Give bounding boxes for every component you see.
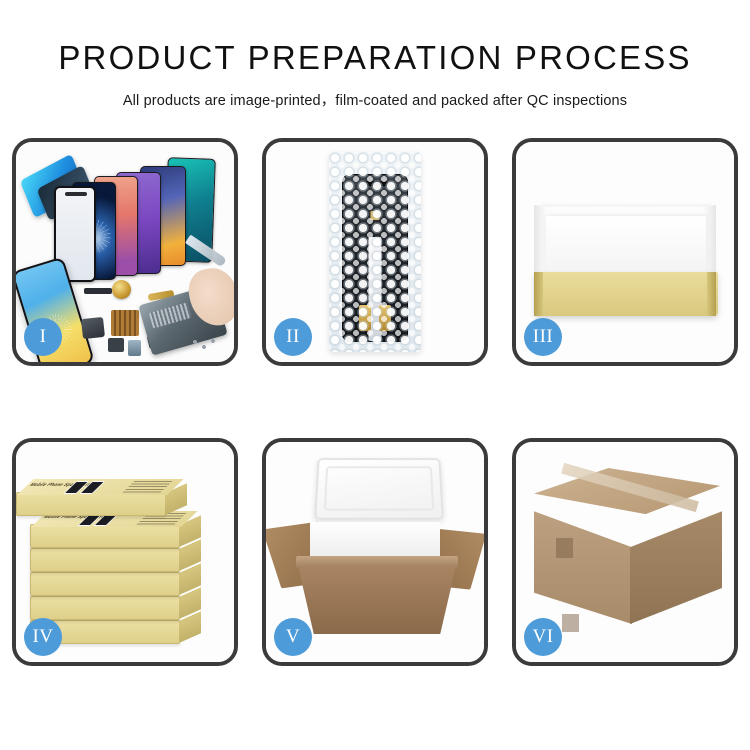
flex-cable-icon: [84, 288, 112, 294]
spare-part-box: [30, 548, 180, 572]
gold-tab-icon: [379, 305, 391, 331]
step-badge-2: II: [274, 318, 312, 356]
styrofoam-box-icon: [310, 522, 440, 558]
carton-tab-icon: [562, 614, 579, 632]
carton-front-icon: [534, 504, 632, 624]
step-badge-1: I: [24, 318, 62, 356]
spare-part-box: [30, 596, 180, 620]
box-edge-icon: [707, 272, 716, 316]
carton-side-icon: [630, 504, 722, 624]
gold-tab-icon: [359, 305, 371, 331]
spare-part-box: [30, 572, 180, 596]
carton-tab-icon: [556, 538, 573, 558]
box-flap-icon: [534, 205, 546, 278]
step-badge-6: VI: [524, 618, 562, 656]
process-step-panel-4: Mobile Phone Spare Parts Mobile Phone Sp…: [12, 438, 238, 666]
flex-cable-icon: [369, 237, 382, 341]
spare-part-box-upper: Mobile Phone Spare Parts: [16, 492, 166, 516]
chip-array-icon: [111, 310, 139, 336]
screws-icon: [192, 338, 218, 354]
battery-part-icon: [81, 317, 105, 339]
page-header: PRODUCT PREPARATION PROCESS All products…: [0, 0, 750, 110]
camera-module-icon: [108, 338, 124, 352]
yellow-box-icon: [534, 272, 718, 316]
foam-sheet-icon: [546, 216, 706, 278]
page-subtitle: All products are image-printed，film-coat…: [0, 89, 750, 110]
box-edge-icon: [534, 272, 543, 316]
sim-tray-icon: [128, 340, 141, 356]
process-step-panel-3: III: [512, 138, 738, 366]
step-badge-3: III: [524, 318, 562, 356]
gold-tab-icon: [371, 211, 380, 220]
product-preparation-page: PRODUCT PREPARATION PROCESS All products…: [0, 0, 750, 750]
wrapped-screen-icon: [342, 174, 408, 342]
carton-body-icon: [298, 566, 456, 634]
bubble-wrap-icon: [329, 152, 421, 352]
process-step-panel-6: VI: [512, 438, 738, 666]
process-step-panel-5: V: [262, 438, 488, 666]
box-stack: Mobile Phone Spare Parts Mobile Phone Sp…: [30, 470, 226, 646]
step-badge-4: IV: [24, 618, 62, 656]
spare-part-box-top: Mobile Phone Spare Parts: [30, 524, 180, 548]
process-steps-grid: I II: [12, 138, 738, 666]
process-step-panel-1: I: [12, 138, 238, 366]
step-badge-5: V: [274, 618, 312, 656]
speaker-coil-icon: [112, 280, 131, 299]
process-step-panel-2: II: [262, 138, 488, 366]
page-title: PRODUCT PREPARATION PROCESS: [0, 40, 750, 76]
styrofoam-lid-icon: [314, 458, 444, 520]
